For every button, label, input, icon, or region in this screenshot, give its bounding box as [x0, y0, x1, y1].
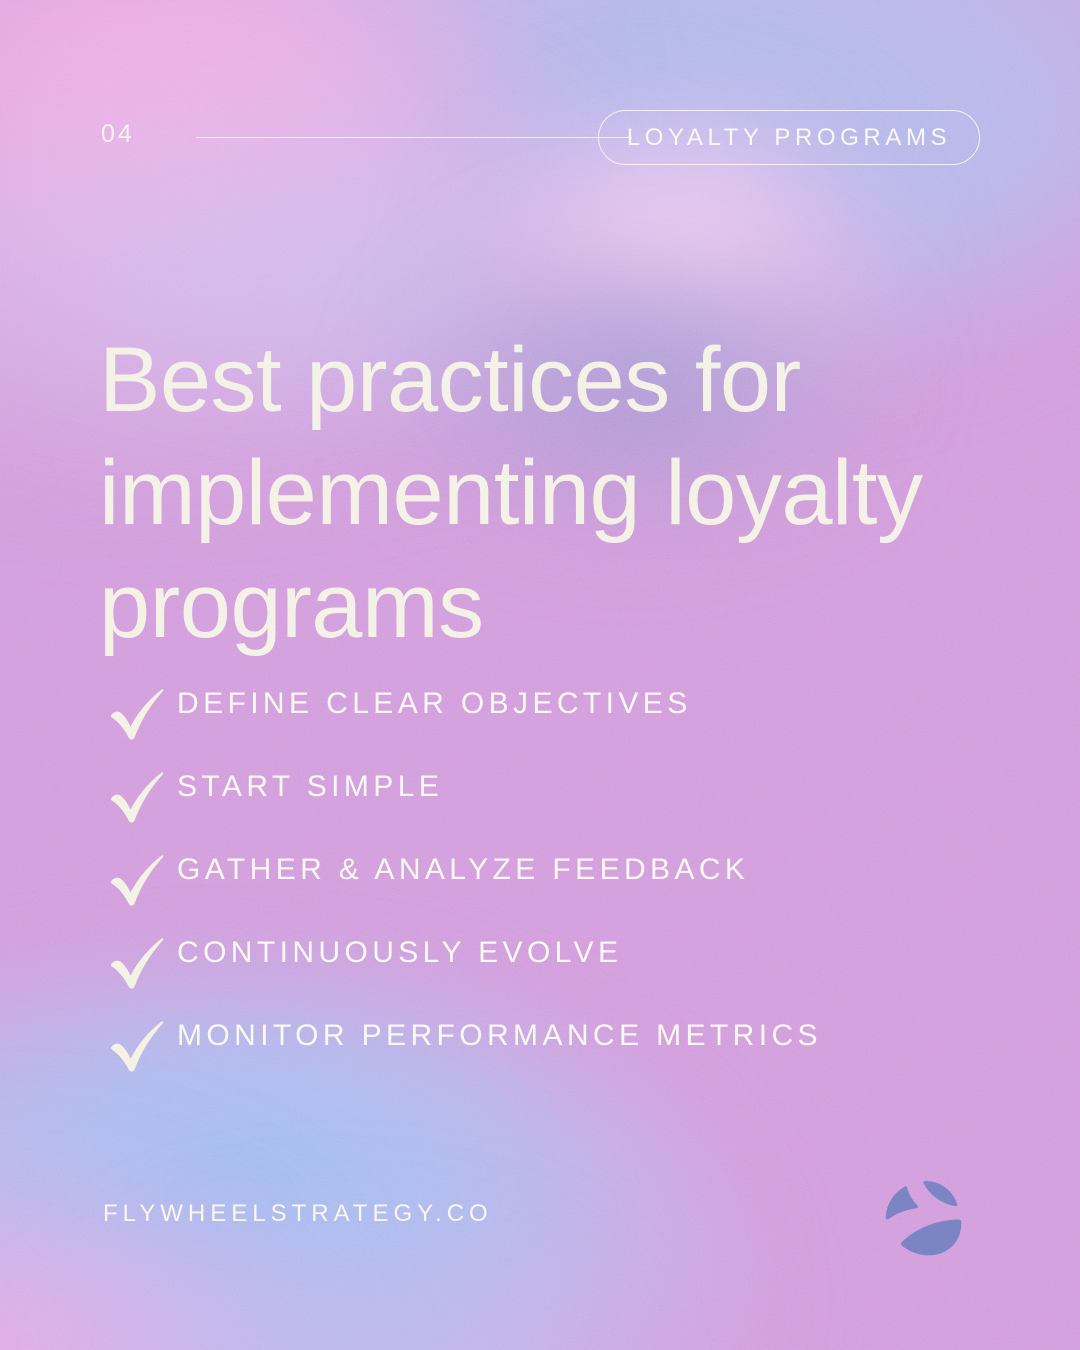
gradient-blob-bottom-pink — [0, 1160, 330, 1350]
list-item-label: GATHER & ANALYZE FEEDBACK — [177, 853, 749, 887]
header-divider-line — [196, 137, 632, 138]
slide-canvas: 04 LOYALTY PROGRAMS Best practices for i… — [0, 0, 1080, 1350]
slide-header: 04 LOYALTY PROGRAMS — [0, 110, 1080, 166]
checklist: DEFINE CLEAR OBJECTIVES START SIMPLE GAT… — [103, 666, 822, 1081]
gradient-blob-top-blue — [0, 0, 1080, 360]
check-icon — [103, 675, 177, 749]
flywheel-logo — [877, 1178, 967, 1268]
check-icon — [103, 924, 177, 998]
list-item-label: MONITOR PERFORMANCE METRICS — [177, 1019, 822, 1053]
list-item: DEFINE CLEAR OBJECTIVES — [103, 666, 822, 749]
list-item: CONTINUOUSLY EVOLVE — [103, 915, 822, 998]
page-title: Best practices for implementing loyalty … — [99, 324, 929, 663]
check-icon — [103, 758, 177, 832]
list-item-label: CONTINUOUSLY EVOLVE — [177, 936, 622, 970]
gradient-blob-bottom-lilac — [60, 1230, 620, 1350]
check-icon — [103, 841, 177, 915]
list-item-label: START SIMPLE — [177, 770, 443, 804]
category-badge: LOYALTY PROGRAMS — [598, 110, 980, 165]
website-url: FLYWHEELSTRATEGY.CO — [103, 1200, 493, 1228]
list-item: START SIMPLE — [103, 749, 822, 832]
list-item: MONITOR PERFORMANCE METRICS — [103, 998, 822, 1081]
check-icon — [103, 1007, 177, 1081]
slide-number: 04 — [101, 122, 135, 147]
category-badge-label: LOYALTY PROGRAMS — [627, 124, 951, 152]
list-item: GATHER & ANALYZE FEEDBACK — [103, 832, 822, 915]
list-item-label: DEFINE CLEAR OBJECTIVES — [177, 687, 692, 721]
